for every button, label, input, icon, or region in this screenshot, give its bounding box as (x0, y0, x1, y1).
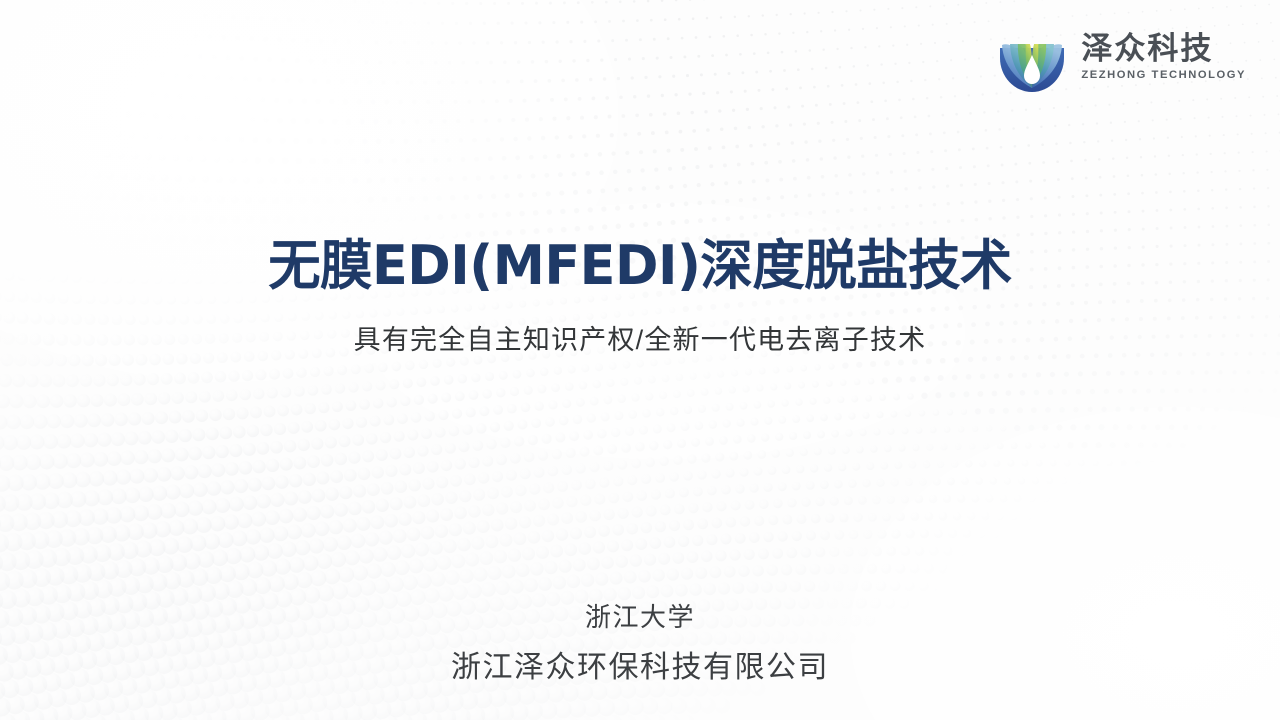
affiliation-block: 浙江大学 浙江泽众环保科技有限公司 (0, 597, 1280, 686)
presentation-slide: 泽众科技 ZEZHONG TECHNOLOGY 无膜EDI(MFEDI)深度脱盐… (0, 0, 1280, 720)
logo-text-block: 泽众科技 ZEZHONG TECHNOLOGY (1081, 33, 1246, 81)
slide-subtitle: 具有完全自主知识产权/全新一代电去离子技术 (0, 318, 1280, 357)
title-block: 无膜EDI(MFEDI)深度脱盐技术 具有完全自主知识产权/全新一代电去离子技术 (0, 236, 1280, 357)
slide-title: 无膜EDI(MFEDI)深度脱盐技术 (19, 236, 1261, 296)
logo-company-name-cn: 泽众科技 (1081, 33, 1213, 64)
logo-company-name-en: ZEZHONG TECHNOLOGY (1081, 70, 1246, 81)
company-logo: 泽众科技 ZEZHONG TECHNOLOGY (995, 22, 1246, 92)
affiliation-university: 浙江大学 (0, 597, 1280, 634)
lotus-waterdrop-logo-icon (995, 22, 1069, 92)
affiliation-company: 浙江泽众环保科技有限公司 (0, 642, 1280, 686)
